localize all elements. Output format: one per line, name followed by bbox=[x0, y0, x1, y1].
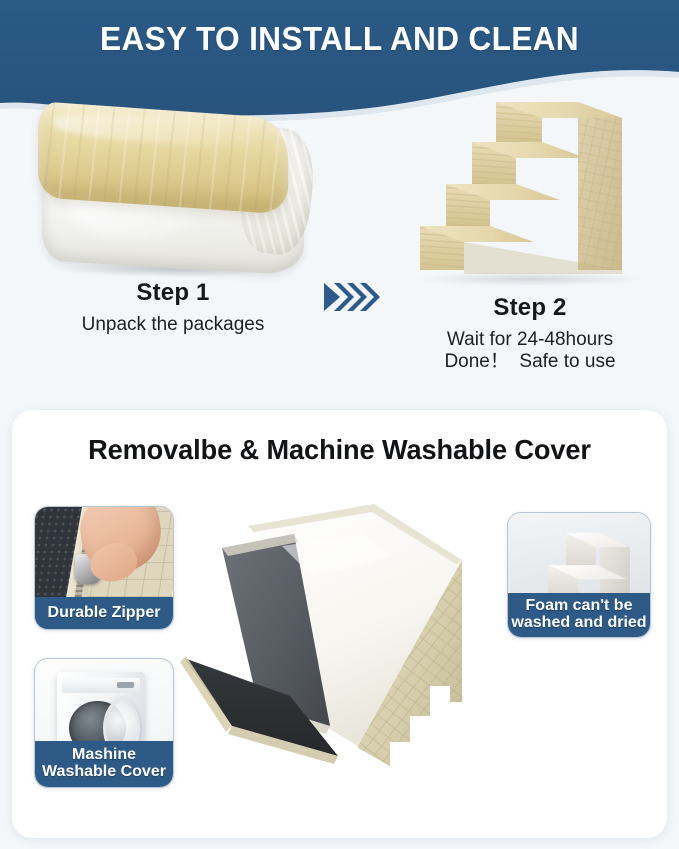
pet-stairs-hero-image bbox=[162, 490, 532, 820]
badge-foam-not-washable: Foam can't be washed and dried bbox=[507, 512, 651, 638]
badge-machine-washable-label: Mashine Washable Cover bbox=[35, 741, 173, 787]
page-title: EASY TO INSTALL AND CLEAN bbox=[14, 20, 666, 58]
washable-cover-card: Removalbe & Machine Washable Cover bbox=[12, 410, 667, 838]
triple-chevron-right-icon bbox=[322, 280, 386, 314]
badge-machine-washable-label-line-1: Mashine bbox=[72, 747, 136, 764]
badge-durable-zipper-label: Durable Zipper bbox=[35, 597, 173, 629]
badge-machine-washable-label-line-2: Washable Cover bbox=[42, 764, 166, 781]
step-1-label: Step 1 bbox=[8, 279, 338, 307]
steps-section: Step 1 Unpack the packages bbox=[0, 88, 679, 406]
badge-foam-not-washable-label-line-1: Foam can't be bbox=[526, 598, 633, 615]
step-1-description-line-1: Unpack the packages bbox=[8, 314, 338, 336]
badge-durable-zipper-label-line-1: Durable Zipper bbox=[48, 605, 161, 622]
step-1-image bbox=[8, 98, 338, 273]
badge-foam-not-washable-label-line-2: washed and dried bbox=[511, 615, 646, 632]
step-2-image bbox=[385, 88, 675, 288]
step-2-description-line-1: Wait for 24-48hours bbox=[385, 329, 675, 351]
expanded-foam-stairs-icon bbox=[410, 88, 650, 288]
step-2-description: Wait for 24-48hours Done！ Safe to use bbox=[385, 329, 675, 373]
progress-arrows bbox=[322, 280, 386, 314]
step-2-description-line-2: Done！ Safe to use bbox=[385, 351, 675, 373]
step-1-description: Unpack the packages bbox=[8, 314, 338, 336]
step-1-column: Step 1 Unpack the packages bbox=[8, 98, 338, 336]
cover-section-title: Removalbe & Machine Washable Cover bbox=[22, 434, 657, 466]
badge-machine-washable: Mashine Washable Cover bbox=[34, 658, 174, 788]
step-2-column: Step 2 Wait for 24-48hours Done！ Safe to… bbox=[385, 88, 675, 373]
badge-foam-not-washable-label: Foam can't be washed and dried bbox=[508, 593, 650, 637]
badge-durable-zipper: Durable Zipper bbox=[34, 506, 174, 630]
compressed-foam-package-icon bbox=[38, 98, 308, 273]
step-2-label: Step 2 bbox=[385, 294, 675, 322]
infographic-page: EASY TO INSTALL AND CLEAN Step 1 Unpack … bbox=[0, 0, 679, 849]
